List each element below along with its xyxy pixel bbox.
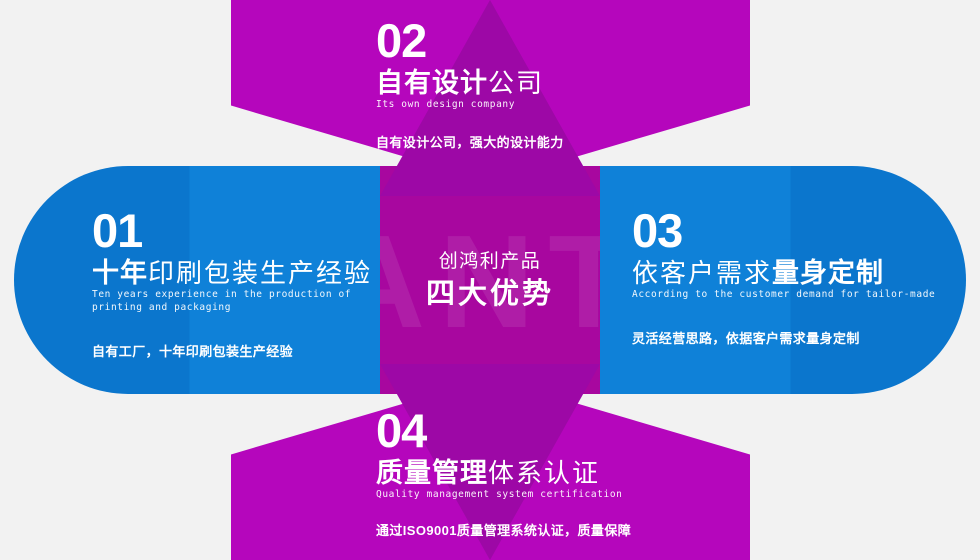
item-title-04: 质量管理体系认证 xyxy=(376,459,631,487)
advantage-item-04[interactable]: 04 质量管理体系认证 Quality management system ce… xyxy=(376,408,631,539)
advantage-item-01[interactable]: 01 十年印刷包装生产经验 Ten years experience in th… xyxy=(92,208,372,360)
infographic-canvas: ADVANTAGE 创鸿利产品 四大优势 01 十年印刷包装生产经验 Ten y… xyxy=(0,0,980,560)
advantage-item-03[interactable]: 03 依客户需求量身定制 According to the customer d… xyxy=(632,208,935,347)
item-english-01: Ten years experience in the production o… xyxy=(92,289,368,315)
center-title-group: 创鸿利产品 四大优势 xyxy=(380,248,600,313)
center-title-line1: 创鸿利产品 xyxy=(380,248,600,276)
item-title-light-01: 印刷包装生产经验 xyxy=(148,258,372,288)
item-title-03: 依客户需求量身定制 xyxy=(632,259,935,287)
item-description-04: 通过ISO9001质量管理系统认证，质量保障 xyxy=(376,520,631,539)
item-title-strong-04: 质量管理 xyxy=(376,458,488,488)
item-title-light-03: 依客户需求 xyxy=(632,258,772,288)
item-english-02: Its own design company xyxy=(376,99,564,112)
item-title-light-02: 公司 xyxy=(488,68,544,98)
item-title-strong-02: 自有设计 xyxy=(376,68,488,98)
item-title-strong-03: 量身定制 xyxy=(772,258,884,288)
item-title-02: 自有设计公司 xyxy=(376,69,564,97)
item-english-04: Quality management system certification xyxy=(376,489,631,502)
center-title-line2: 四大优势 xyxy=(380,276,600,314)
item-number-04: 04 xyxy=(376,408,631,454)
item-description-01: 自有工厂，十年印刷包装生产经验 xyxy=(92,341,372,360)
item-number-02: 02 xyxy=(376,18,564,64)
item-description-03: 灵活经营思路，依据客户需求量身定制 xyxy=(632,328,935,347)
item-title-strong-01: 十年 xyxy=(92,258,148,288)
item-title-01: 十年印刷包装生产经验 xyxy=(92,259,372,287)
item-english-03: According to the customer demand for tai… xyxy=(632,289,935,302)
item-description-02: 自有设计公司，强大的设计能力 xyxy=(376,132,564,151)
item-number-01: 01 xyxy=(92,208,372,254)
item-title-light-04: 体系认证 xyxy=(488,458,600,488)
advantage-item-02[interactable]: 02 自有设计公司 Its own design company 自有设计公司，… xyxy=(376,18,564,151)
item-number-03: 03 xyxy=(632,208,935,254)
